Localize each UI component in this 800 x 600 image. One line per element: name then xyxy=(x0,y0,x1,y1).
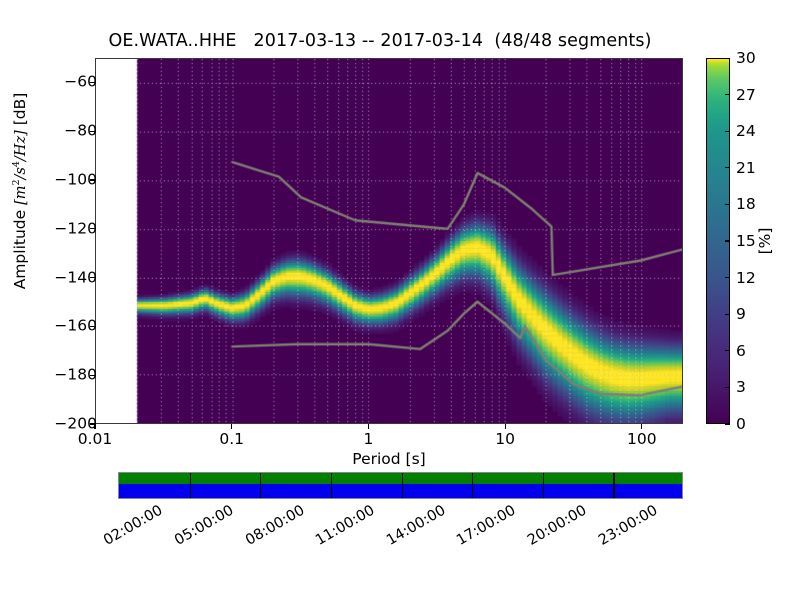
y-axis-tick-label: −100 xyxy=(37,172,97,188)
colorbar-tick-label: 21 xyxy=(736,159,756,177)
colorbar-tick-label: 6 xyxy=(736,342,746,360)
timeline-separator xyxy=(331,473,332,498)
y-axis-tick-mark xyxy=(90,375,95,376)
colorbar-tick-mark xyxy=(725,423,730,424)
x-axis-tick-mark xyxy=(94,424,95,429)
colorbar-tick-mark xyxy=(725,167,730,168)
y-axis-tick-label: −160 xyxy=(37,319,97,335)
y-axis-label: Amplitude [m2/s4/Hz] [dB] xyxy=(11,41,29,341)
timeline-separator xyxy=(472,473,473,498)
colorbar-tick-mark xyxy=(725,131,730,132)
timeline-tick-label: 23:00:00 xyxy=(596,505,656,549)
timeline-tick-label: 02:00:00 xyxy=(101,505,161,549)
timeline-separator xyxy=(543,473,544,498)
colorbar-tick-mark xyxy=(725,314,730,315)
y-axis-tick-label: −180 xyxy=(37,367,97,383)
timeline-tick-label: 20:00:00 xyxy=(525,505,585,549)
x-axis-tick-mark xyxy=(368,424,369,429)
page-title: OE.WATA..HHE 2017-03-13 -- 2017-03-14 (4… xyxy=(0,31,760,51)
colorbar-tick-mark xyxy=(725,277,730,278)
ppsd-histogram-canvas xyxy=(96,59,682,423)
y-axis-label-prefix: Amplitude xyxy=(11,205,29,289)
colorbar-label: [%] xyxy=(756,211,774,271)
x-axis-label: Period [s] xyxy=(95,450,683,468)
timeline-row-green xyxy=(119,473,682,484)
x-axis-tick-label: 0.01 xyxy=(78,430,113,448)
colorbar-tick-mark xyxy=(725,350,730,351)
colorbar-tick-label: 24 xyxy=(736,122,756,140)
colorbar-tick-mark xyxy=(725,94,730,95)
y-axis-tick-label: −60 xyxy=(37,75,97,91)
y-axis-label-units: [m2/s4/Hz] xyxy=(13,130,29,205)
colorbar-tick-label: 3 xyxy=(736,378,746,396)
y-axis-tick-label: −120 xyxy=(37,221,97,237)
ppsd-plot-axes xyxy=(95,58,683,424)
y-axis-tick-mark xyxy=(90,179,95,180)
colorbar-tick-label: 27 xyxy=(736,86,756,104)
colorbar-tick-mark xyxy=(725,204,730,205)
y-axis-tick-label: −80 xyxy=(37,123,97,139)
colorbar-tick-label: 12 xyxy=(736,269,756,287)
x-axis-tick-mark xyxy=(231,424,232,429)
y-axis-tick-label: −140 xyxy=(37,270,97,286)
x-axis-tick-label: 10 xyxy=(495,430,515,448)
colorbar-tick-label: 9 xyxy=(736,305,746,323)
timeline-row-blue xyxy=(119,484,682,498)
colorbar-tick-label: 15 xyxy=(736,232,756,250)
y-axis-tick-mark xyxy=(90,326,95,327)
x-axis-tick-mark xyxy=(505,424,506,429)
colorbar-tick-label: 0 xyxy=(736,415,746,433)
y-axis-tick-mark xyxy=(90,82,95,83)
timeline-tick-label: 08:00:00 xyxy=(243,505,303,549)
timeline-tick-label: 14:00:00 xyxy=(384,505,444,549)
timeline-separator xyxy=(190,473,191,498)
y-axis-label-suffix: [dB] xyxy=(11,93,29,131)
timeline-tick-label: 05:00:00 xyxy=(172,505,232,549)
x-axis-tick-label: 100 xyxy=(627,430,657,448)
x-axis-tick-label: 0.1 xyxy=(219,430,244,448)
timeline-separator xyxy=(613,473,614,498)
timeline-separator xyxy=(402,473,403,498)
colorbar-tick-mark xyxy=(725,387,730,388)
timeline-tick-label: 11:00:00 xyxy=(313,505,373,549)
timeline-separator xyxy=(260,473,261,498)
y-axis-tick-mark xyxy=(90,228,95,229)
colorbar-tick-label: 30 xyxy=(736,49,756,67)
y-axis-tick-mark xyxy=(90,131,95,132)
y-axis-tick-mark xyxy=(90,277,95,278)
colorbar-tick-mark xyxy=(725,240,730,241)
colorbar-tick-label: 18 xyxy=(736,195,756,213)
x-axis-tick-mark xyxy=(641,424,642,429)
timeline-tick-label: 17:00:00 xyxy=(454,505,514,549)
segment-timeline[interactable] xyxy=(118,472,683,499)
x-axis-tick-label: 1 xyxy=(363,430,373,448)
